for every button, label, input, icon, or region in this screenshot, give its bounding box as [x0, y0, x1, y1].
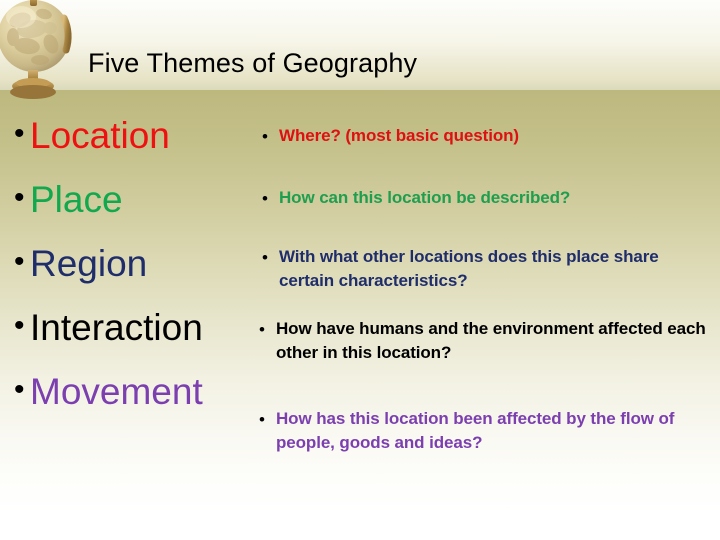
details-list: • Where? (most basic question) • How can… — [258, 124, 716, 455]
globe-icon — [0, 0, 86, 110]
theme-label: Movement — [30, 368, 270, 416]
bullet-icon: • — [8, 368, 30, 412]
detail-text: Where? (most basic question) — [279, 124, 716, 148]
detail-text: How has this location been affected by t… — [276, 407, 716, 455]
theme-item-region[interactable]: • Region — [8, 240, 270, 304]
detail-item-place[interactable]: • How can this location be described? — [258, 186, 716, 245]
theme-label: Place — [30, 176, 270, 224]
theme-label: Interaction — [30, 304, 270, 352]
theme-item-interaction[interactable]: • Interaction — [8, 304, 270, 368]
bullet-icon: • — [258, 186, 279, 211]
detail-item-region[interactable]: • With what other locations does this pl… — [258, 245, 716, 317]
theme-item-place[interactable]: • Place — [8, 176, 270, 240]
detail-text: With what other locations does this plac… — [279, 245, 716, 293]
detail-item-movement[interactable]: • How has this location been affected by… — [255, 407, 716, 455]
themes-list: • Location • Place • Region • Interactio… — [8, 112, 270, 432]
bullet-icon: • — [8, 304, 30, 348]
bullet-icon: • — [258, 245, 279, 270]
theme-item-movement[interactable]: • Movement — [8, 368, 270, 432]
bullet-icon: • — [8, 176, 30, 220]
bullet-icon: • — [8, 112, 30, 156]
theme-label: Location — [30, 112, 270, 160]
bullet-icon: • — [255, 317, 276, 342]
bullet-icon: • — [8, 240, 30, 284]
bullet-icon: • — [255, 407, 276, 432]
slide-canvas: Five Themes of Geography • Location • Pl… — [0, 0, 720, 540]
detail-text: How can this location be described? — [279, 186, 716, 210]
detail-item-interaction[interactable]: • How have humans and the environment af… — [255, 317, 716, 407]
theme-label: Region — [30, 240, 270, 288]
detail-text: How have humans and the environment affe… — [276, 317, 716, 365]
theme-item-location[interactable]: • Location — [8, 112, 270, 176]
detail-item-location[interactable]: • Where? (most basic question) — [258, 124, 716, 186]
page-title: Five Themes of Geography — [88, 48, 417, 78]
bullet-icon: • — [258, 124, 279, 149]
